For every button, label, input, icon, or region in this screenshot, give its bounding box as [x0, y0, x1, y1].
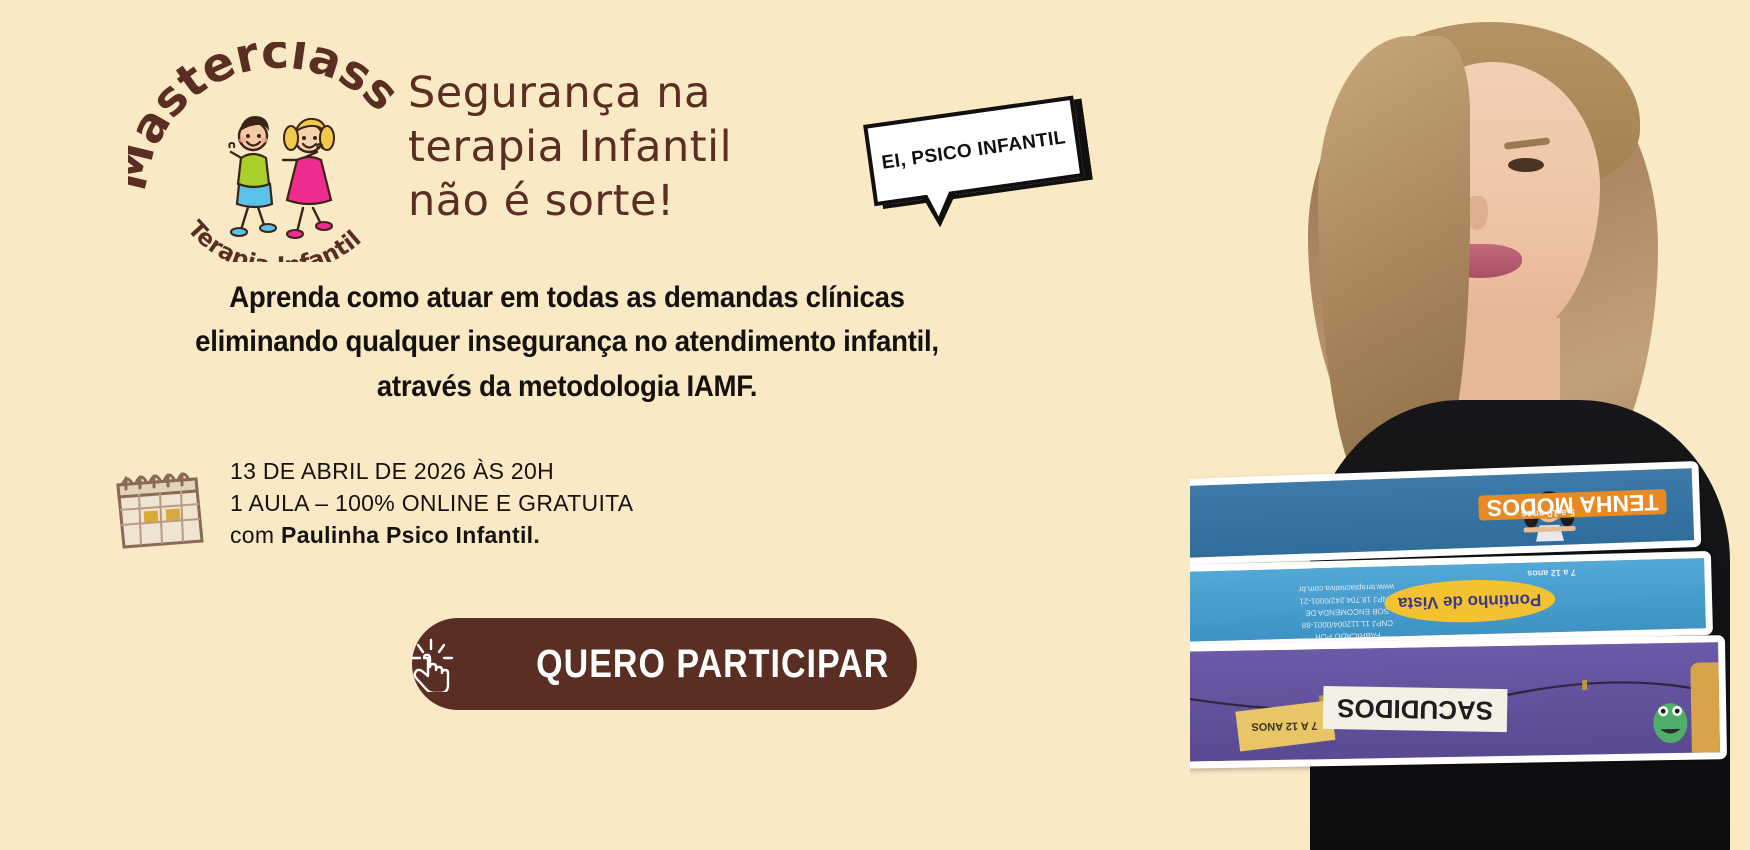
speech-bubble-body: EI, PSICO INFANTIL — [863, 96, 1084, 207]
box-sacudidos-age: 7 A 12 ANOS — [1251, 719, 1317, 732]
event-info-text: 13 DE ABRIL DE 2026 ÀS 20H 1 AULA – 100%… — [230, 455, 633, 552]
presenter-photo: TENHA MODOS 5 a 10 anos FABRICADO POR CN… — [1190, 0, 1750, 850]
headline-line-1: Segurança na — [408, 66, 828, 120]
fineprint-line-4: CNPJ 18.704.242/0001-21 — [1299, 594, 1394, 605]
subheadline-line-3: através da metodologia IAMF. — [112, 365, 1023, 409]
giraffe-icon — [1690, 662, 1726, 759]
event-date: 13 DE ABRIL DE 2026 ÀS 20H — [230, 455, 633, 487]
headline-line-3: não é sorte! — [408, 174, 828, 228]
event-host-name: Paulinha Psico Infantil. — [281, 522, 540, 548]
fineprint-line-3: SOB ENCOMENDA DE — [1305, 606, 1389, 617]
box-title-text: Pontinho de Vista — [1383, 578, 1555, 624]
two-children-illustration — [221, 108, 351, 243]
box-pontinho-title: Pontinho de Vista — [1383, 578, 1555, 624]
box-pontinho-age: 7 a 12 anos — [1528, 567, 1577, 578]
fineprint-line-5: www.terapiacriativa.com.br — [1299, 582, 1395, 593]
click-hand-icon — [409, 636, 457, 692]
event-format: 1 AULA – 100% ONLINE E GRATUITA — [230, 487, 633, 519]
box-tenha-modos: TENHA MODOS 5 a 10 anos — [1190, 461, 1701, 565]
fineprint-line-1: FABRICADO POR — [1315, 631, 1381, 642]
speech-bubble-tail-inner — [926, 190, 953, 218]
fineprint-line-2: CNPJ 11.112004/0001-88 — [1302, 618, 1394, 629]
box-fineprint: FABRICADO POR CNPJ 11.112004/0001-88 SOB… — [1298, 580, 1395, 642]
cta-label: QUERO PARTICIPAR — [536, 642, 889, 687]
calendar-icon — [110, 457, 208, 549]
box-sacudidos-title: SACUDIDOS — [1323, 686, 1508, 732]
subheadline: Aprenda como atuar em todas as demandas … — [112, 276, 1023, 409]
event-info-block: 13 DE ABRIL DE 2026 ÀS 20H 1 AULA – 100%… — [110, 455, 633, 552]
promo-banner: Masterclass Terapia Infantil — [0, 0, 1750, 850]
crocodile-icon — [1643, 691, 1698, 748]
box-tenha-modos-age: 5 a 10 anos — [1521, 506, 1575, 519]
speech-bubble: EI, PSICO INFANTIL — [862, 84, 1117, 275]
event-host-prefix: com — [230, 522, 281, 548]
headline-line-2: terapia Infantil — [408, 120, 828, 174]
speech-bubble-label: EI, PSICO INFANTIL — [880, 127, 1067, 175]
quero-participar-button[interactable]: QUERO PARTICIPAR — [412, 618, 917, 710]
event-host: com Paulinha Psico Infantil. — [230, 519, 633, 551]
subheadline-line-2: eliminando qualquer insegurança no atend… — [112, 320, 1023, 364]
box-pontinho-de-vista: FABRICADO POR CNPJ 11.112004/0001-88 SOB… — [1190, 551, 1713, 649]
headline: Segurança na terapia Infantil não é sort… — [408, 66, 828, 229]
masterclass-logo: Masterclass Terapia Infantil — [128, 42, 428, 262]
box-sacudidos: SACUDIDOS 7 A 12 ANOS — [1190, 635, 1727, 769]
subheadline-line-1: Aprenda como atuar em todas as demandas … — [112, 276, 1023, 320]
